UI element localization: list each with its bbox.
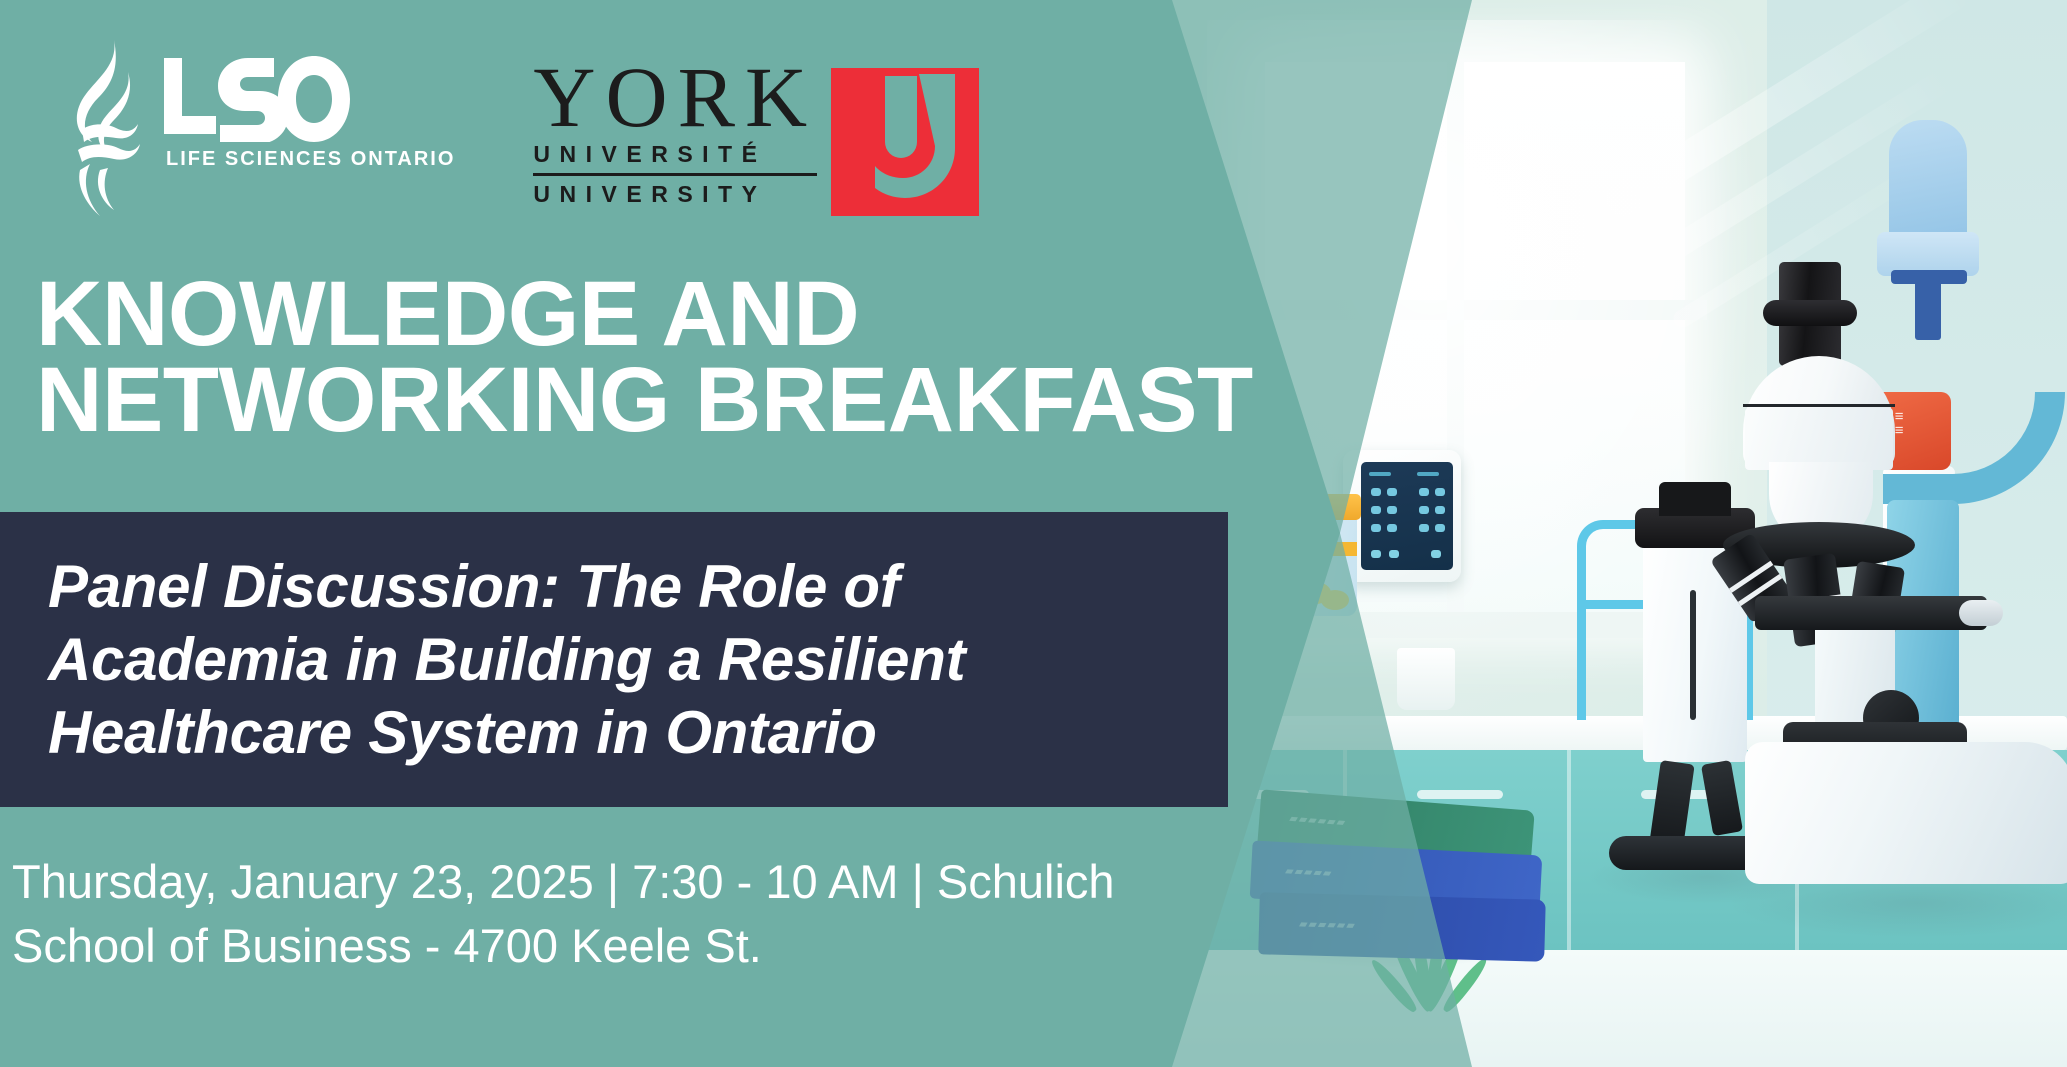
york-red-u-mark: [831, 68, 979, 216]
microscope-head-seam: [1743, 404, 1895, 407]
headline-line-2: NETWORKING BREAKFAST: [36, 358, 1253, 444]
plant-pot: [1397, 648, 1455, 710]
lab-cylinder-neck: [1659, 482, 1731, 516]
control-panel-screen: [1361, 462, 1453, 570]
event-banner: ≡≡≡≡ ▰▰▰▰▰▰ ▰▰▰▰▰ ▰▰▰▰▰▰: [0, 0, 2067, 1067]
lso-flame-dna-mark: [58, 38, 154, 218]
microscope-head-lower: [1745, 408, 1893, 470]
york-sub-francais: UNIVERSITÉ: [533, 139, 817, 170]
microscope-stage-knob: [1959, 600, 2003, 626]
lso-wordmark: [162, 56, 352, 142]
york-logo-text: YORK UNIVERSITÉ UNIVERSITY: [533, 56, 817, 210]
session-title-line-3: Healthcare System in Ontario: [48, 696, 965, 769]
session-title-text: Panel Discussion: The Role of Academia i…: [0, 550, 965, 770]
logo-row: LIFE SCIENCES ONTARIO YORK UNIVERSITÉ UN…: [58, 38, 979, 218]
cabinet-divider: [1567, 750, 1571, 950]
york-university-logo[interactable]: YORK UNIVERSITÉ UNIVERSITY: [533, 56, 979, 216]
microscope-eyepiece-ring: [1763, 300, 1857, 326]
bottle-stand-stem: [1915, 276, 1941, 340]
session-title-line-2: Academia in Building a Resilient: [48, 623, 965, 696]
york-sub-english: UNIVERSITY: [533, 179, 817, 210]
microscope-base: [1745, 742, 2067, 884]
microscope-stage: [1755, 596, 1987, 630]
blue-bottle: [1889, 120, 1967, 242]
york-divider-rule: [533, 173, 817, 176]
york-wordmark: YORK: [533, 56, 817, 139]
lso-logo[interactable]: LIFE SCIENCES ONTARIO: [58, 38, 455, 218]
lso-tagline: LIFE SCIENCES ONTARIO: [166, 148, 455, 171]
lab-cylinder-slit: [1690, 590, 1696, 720]
session-title-panel: Panel Discussion: The Role of Academia i…: [0, 512, 1228, 807]
cabinet-handle: [1417, 790, 1503, 799]
session-title-line-1: Panel Discussion: The Role of: [48, 550, 965, 623]
york-u-glyph: [831, 68, 979, 216]
headline-line-1: KNOWLEDGE AND: [36, 272, 1253, 358]
event-details-text: Thursday, January 23, 2025 | 7:30 - 10 A…: [12, 850, 1172, 979]
content-area: LIFE SCIENCES ONTARIO YORK UNIVERSITÉ UN…: [0, 0, 1250, 1067]
event-headline: KNOWLEDGE AND NETWORKING BREAKFAST: [36, 272, 1253, 443]
